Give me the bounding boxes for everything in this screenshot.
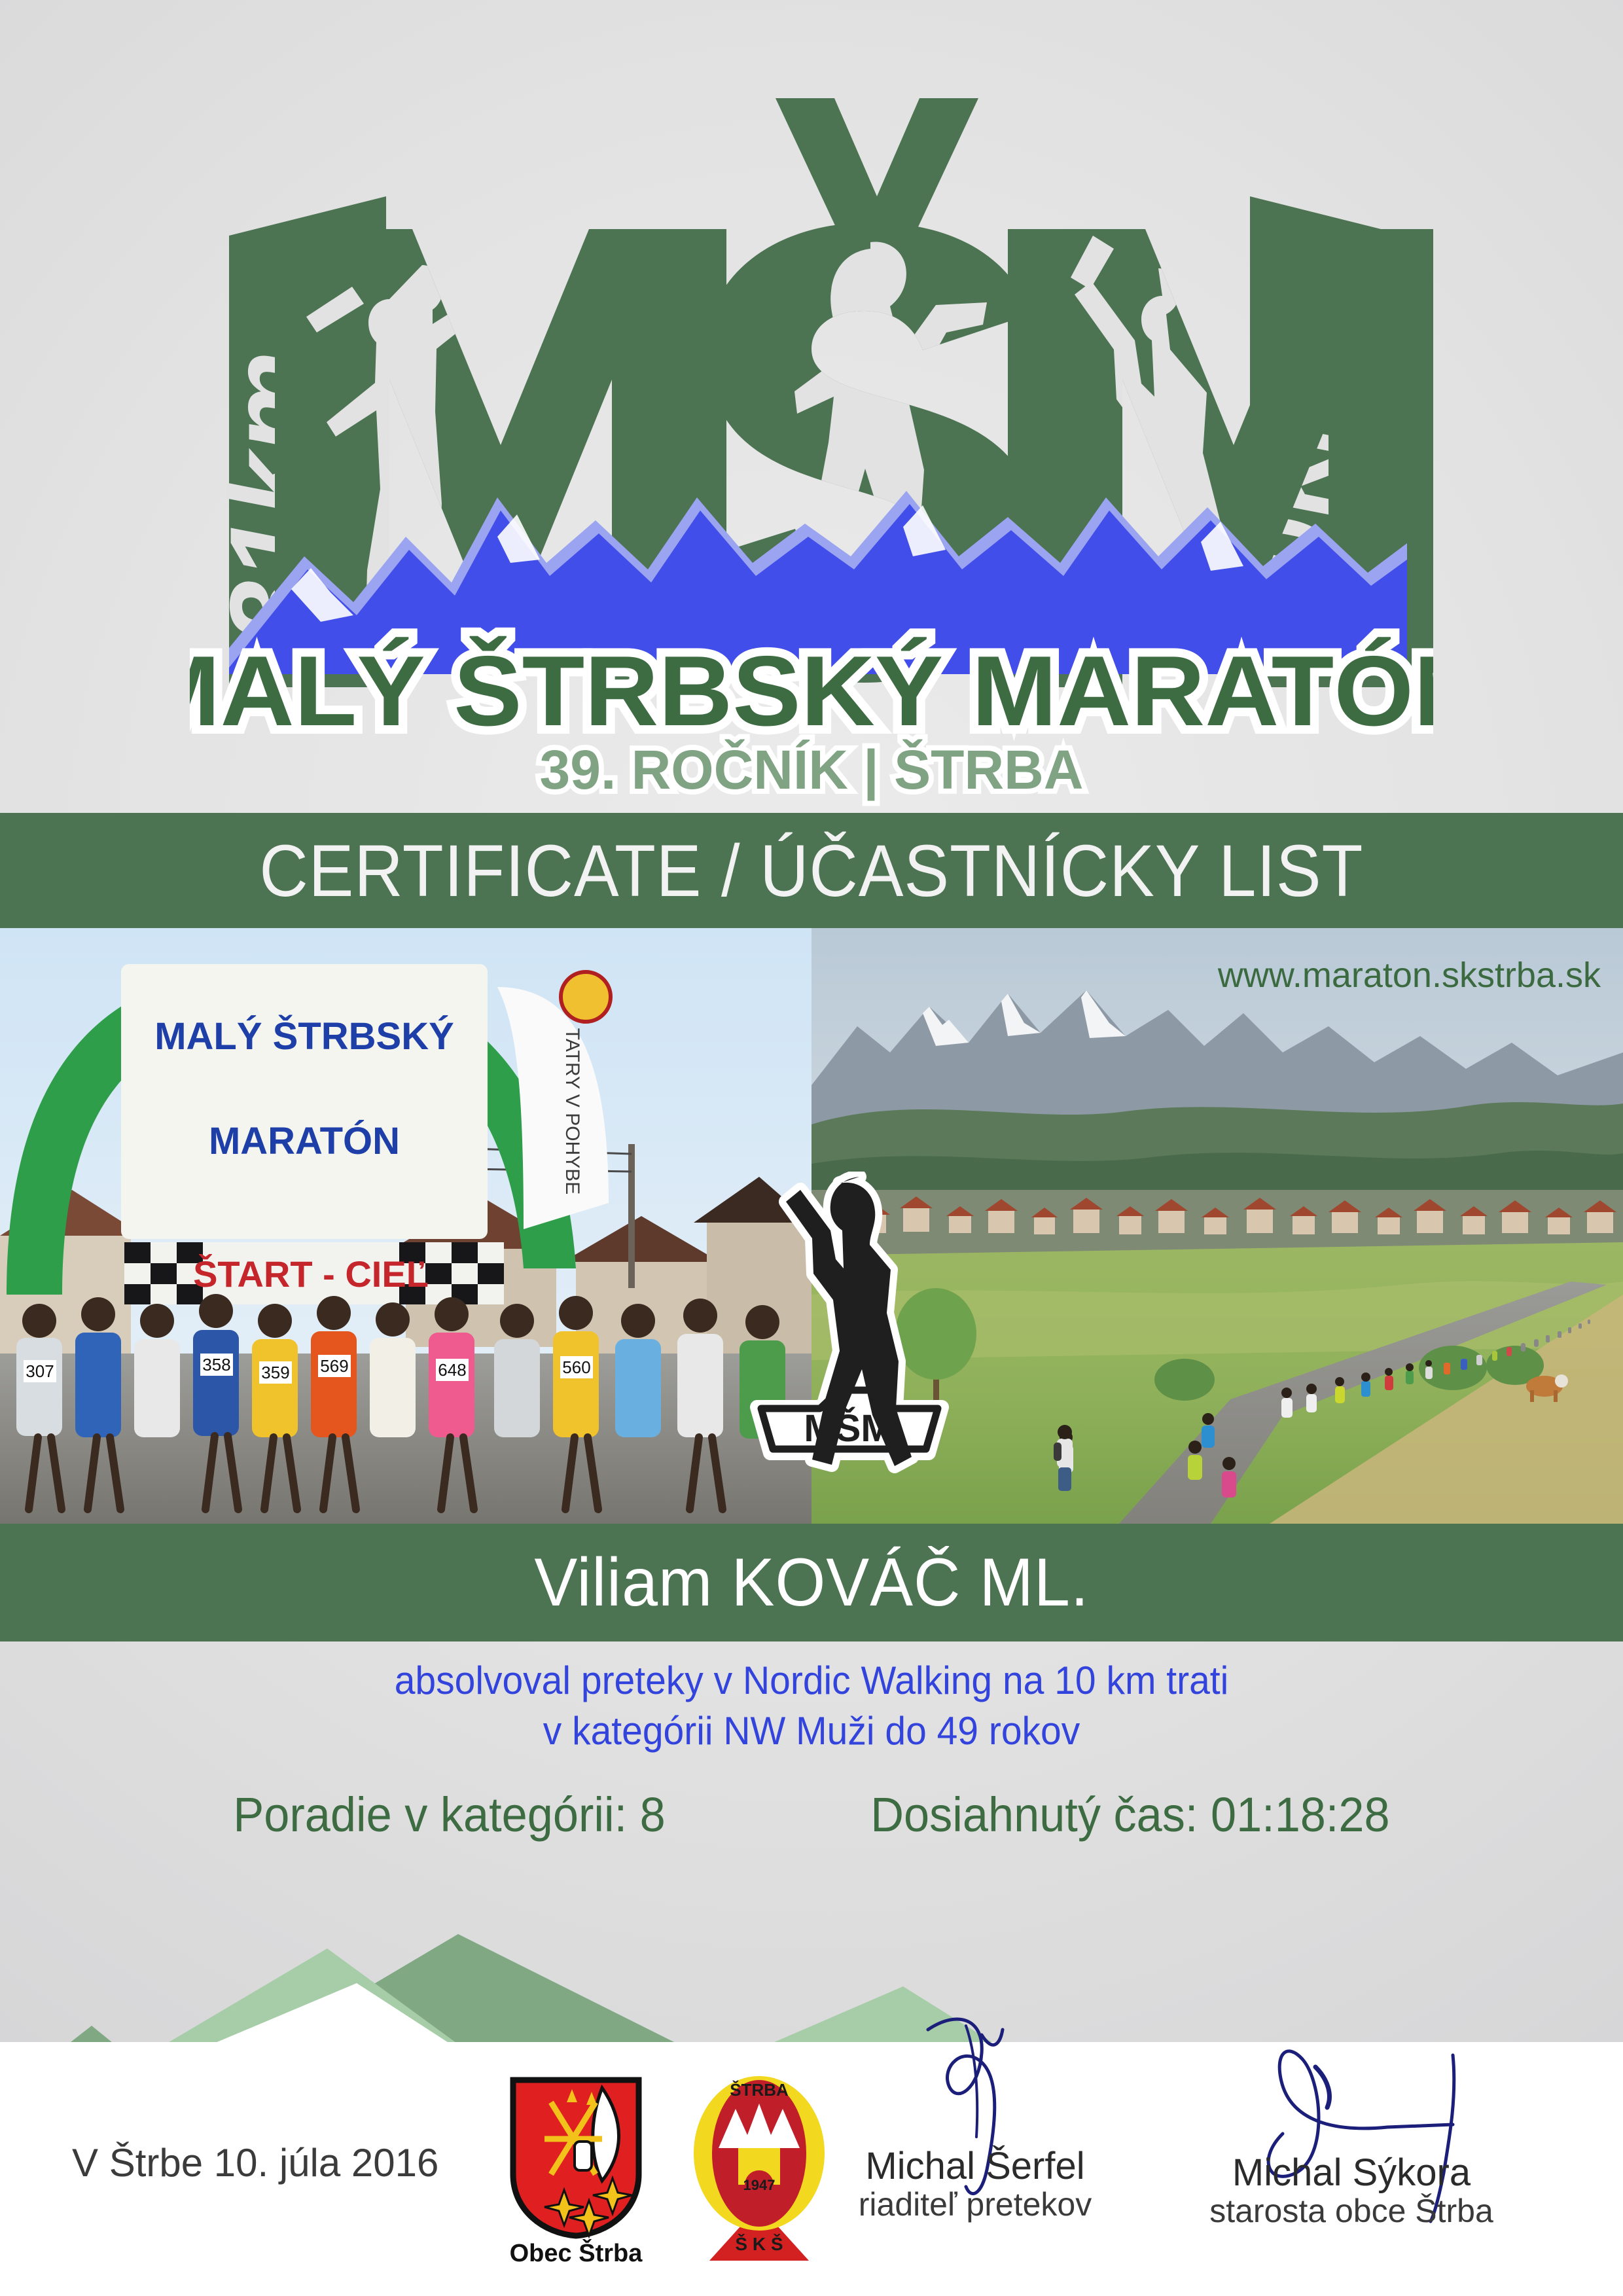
category-rank: Poradie v kategórii: 8 <box>233 1787 665 1842</box>
svg-text:560: 560 <box>562 1357 590 1377</box>
signature-block-serfel: Michal Šerfel riaditeľ pretekov <box>821 2147 1129 2223</box>
achievement-line-1: absolvoval preteky v Nordic Walking na 1… <box>41 1656 1582 1706</box>
flag-text: TATRY V POHYBE <box>562 1028 583 1195</box>
arch-text-line1: MALÝ ŠTRBSKÝ <box>154 1015 454 1058</box>
sks-top-text: ŠTRBA <box>730 2080 789 2100</box>
sticker-label: MŠM <box>804 1407 892 1450</box>
msm-logo-svg: 31km 10km <box>190 39 1433 812</box>
svg-text:359: 359 <box>261 1363 289 1382</box>
achievement-text: absolvoval preteky v Nordic Walking na 1… <box>41 1656 1582 1757</box>
event-subtitle: 39. ROČNÍK | ŠTRBA <box>540 739 1084 801</box>
event-title: MALÝ ŠTRBSKÝ MARATÓN <box>190 635 1433 746</box>
signatory-name: Michal Šerfel <box>821 2147 1129 2187</box>
crest-label: Obec Štrba <box>504 2240 648 2268</box>
participant-name-banner: Viliam KOVÁČ ML. <box>0 1524 1623 1641</box>
sks-bottom-text: Š K Š <box>735 2233 783 2254</box>
finish-time: Dosiahnutý čas: 01:18:28 <box>870 1787 1389 1842</box>
svg-text:569: 569 <box>320 1356 348 1376</box>
issue-date: V Štrbe 10. júla 2016 <box>72 2140 438 2185</box>
arch-text-line2: MARATÓN <box>209 1120 400 1162</box>
certificate-heading: CERTIFICATE / ÚČASTNÍCKY LIST <box>259 829 1363 913</box>
footer: V Štrbe 10. júla 2016 Obec Štrba <box>0 2042 1623 2296</box>
results-row: Poradie v kategórii: 8 Dosiahnutý čas: 0… <box>41 1787 1582 1842</box>
obec-strba-crest <box>504 2076 648 2240</box>
sks-year: 1947 <box>743 2177 776 2193</box>
event-logo-block: 31km 10km <box>0 0 1623 813</box>
website-url: www.maraton.skstrba.sk <box>1217 956 1601 995</box>
certificate-banner: CERTIFICATE / ÚČASTNÍCKY LIST <box>0 813 1623 928</box>
arch-text-start-finish: ŠTART - CIEĽ <box>193 1253 429 1295</box>
photo-start-line: MALÝ ŠTRBSKÝ MARATÓN ŠTART - CIEĽ <box>0 928 811 1524</box>
achievement-line-2: v kategórii NW Muži do 49 rokov <box>41 1706 1582 1757</box>
svg-text:358: 358 <box>202 1355 230 1374</box>
signature-block-sykora: Michal Sýkora starosta obce Štrba <box>1198 2153 1505 2229</box>
signatory-name: Michal Sýkora <box>1198 2153 1505 2193</box>
participant-name: Viliam KOVÁČ ML. <box>534 1544 1089 1622</box>
sks-club-logo: 1947 ŠTRBA Š K Š <box>681 2075 838 2265</box>
svg-text:307: 307 <box>26 1361 54 1381</box>
signatory-role: starosta obce Štrba <box>1198 2193 1505 2229</box>
certificate-page: 31km 10km <box>0 0 1623 2296</box>
svg-text:648: 648 <box>438 1360 466 1380</box>
signatory-role: riaditeľ pretekov <box>821 2187 1129 2223</box>
msm-runner-sticker: MŠM <box>741 1172 957 1479</box>
